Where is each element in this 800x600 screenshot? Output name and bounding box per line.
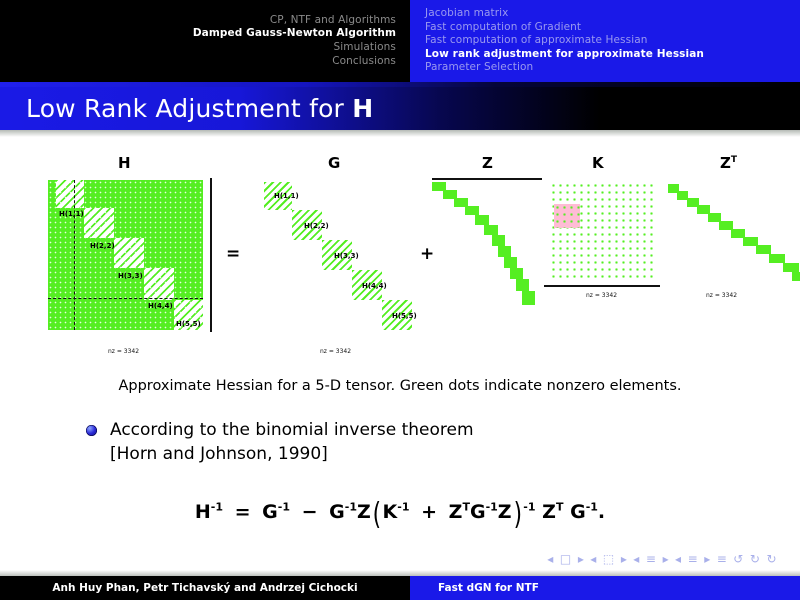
binomial-inverse-equation: H-1 = G-1 − G-1Z(K-1 + ZTG-1Z)-1 ZT G-1. <box>0 497 800 532</box>
page-title-prefix: Low Rank Adjustment for <box>26 94 352 123</box>
eq-close-sup: -1 <box>523 501 535 514</box>
bullet-item: According to the binomial inverse theore… <box>86 418 726 466</box>
footer-authors: Anh Huy Phan, Petr Tichavský and Andrzej… <box>0 576 410 600</box>
matrix-h-block-label-2: H(2,2) <box>90 242 115 250</box>
nav-subsection-2[interactable]: Fast computation of approximate Hessian <box>425 34 800 48</box>
hessian-figure: H H(1,1) H(2,2) H(3,3) H(4,4) H(5,5) nz … <box>30 152 775 367</box>
nav-symbol-section-icon[interactable]: ◂ ≡ ▸ <box>675 552 712 566</box>
eq-plus: + <box>421 501 437 523</box>
eq-t4: K <box>383 501 398 523</box>
nav-section-2[interactable]: Simulations <box>333 41 396 55</box>
matrix-zt-axis-note: nz = 3342 <box>706 292 737 299</box>
matrix-z-step <box>510 268 523 279</box>
matrix-label-g: G <box>328 154 340 172</box>
eq-t9: G <box>570 501 586 523</box>
matrix-label-h: H <box>118 154 131 172</box>
eq-t7: Z <box>498 501 512 523</box>
eq-t9-sup: -1 <box>586 501 598 514</box>
matrix-h-axis-note: nz = 3342 <box>108 348 139 355</box>
matrix-zt-step <box>769 254 785 263</box>
header-navigation: CP, NTF and Algorithms Damped Gauss-Newt… <box>0 0 800 82</box>
eq-t8: Z <box>542 501 556 523</box>
matrix-h-block-label-5: H(5,5) <box>176 320 201 328</box>
matrix-zt-step <box>792 272 800 281</box>
matrix-g-block-label-3: H(3,3) <box>334 252 359 260</box>
eq-period: . <box>598 501 605 523</box>
bullet-line-2: [Horn and Johnson, 1990] <box>110 442 474 466</box>
matrix-g-block-label-5: H(5,5) <box>392 312 417 320</box>
eq-open-paren: ( <box>372 497 380 532</box>
nav-subsection-3[interactable]: Low rank adjustment for approximate Hess… <box>425 48 800 62</box>
matrix-h-vgrid <box>74 180 75 330</box>
matrix-z-step <box>498 246 511 257</box>
matrix-z-step <box>522 291 535 305</box>
nav-symbol-frame-icon[interactable]: ◂ ⬚ ▸ <box>590 552 628 566</box>
section-navigation: CP, NTF and Algorithms Damped Gauss-Newt… <box>0 0 410 82</box>
matrix-label-k: K <box>592 154 604 172</box>
matrix-h-block-label-1: H(1,1) <box>59 210 84 218</box>
eq-t1-sup: -1 <box>278 501 290 514</box>
eq-t2: G <box>329 501 345 523</box>
eq-t6: G <box>470 501 486 523</box>
matrix-k-bottom-rule <box>544 285 660 287</box>
nav-subsection-0[interactable]: Jacobian matrix <box>425 7 800 21</box>
matrix-g-block-label-1: H(1,1) <box>274 192 299 200</box>
matrix-h-dot-texture <box>48 180 203 330</box>
matrix-h-block-label-3: H(3,3) <box>118 272 143 280</box>
eq-lhs-sup: -1 <box>211 501 223 514</box>
matrix-k-highlight-block <box>554 204 580 228</box>
matrix-z-step <box>516 279 529 291</box>
eq-t6-sup: -1 <box>486 501 498 514</box>
eq-t5: Z <box>449 501 463 523</box>
eq-t1: G <box>262 501 278 523</box>
bullet-text: According to the binomial inverse theore… <box>110 418 474 466</box>
eq-t3: Z <box>357 501 371 523</box>
beamer-navigation-symbols[interactable]: ◂ □ ▸ ◂ ⬚ ▸ ◂ ≡ ▸ ◂ ≡ ▸ ≡ ↺ ↻ ↻ <box>547 552 778 566</box>
matrix-g-block-label-4: H(4,4) <box>362 282 387 290</box>
eq-t2-sup: -1 <box>345 501 357 514</box>
matrix-k-dot-field <box>550 182 655 282</box>
nav-symbol-doc-icon[interactable]: ≡ <box>717 552 728 566</box>
nav-section-0[interactable]: CP, NTF and Algorithms <box>270 14 396 28</box>
nav-symbol-subsection-icon[interactable]: ◂ ≡ ▸ <box>633 552 670 566</box>
matrix-label-z: Z <box>482 154 493 172</box>
matrix-z-step <box>465 206 479 215</box>
operator-equals: = <box>226 244 240 264</box>
matrix-zt-plot <box>668 184 800 289</box>
matrix-z-step <box>475 215 489 225</box>
matrix-h-plot: H(1,1) H(2,2) H(3,3) H(4,4) H(5,5) <box>48 180 203 330</box>
matrix-zt-step <box>756 245 771 254</box>
bullet-line-1: According to the binomial inverse theore… <box>110 418 474 442</box>
nav-subsection-4[interactable]: Parameter Selection <box>425 61 800 75</box>
nav-section-1[interactable]: Damped Gauss-Newton Algorithm <box>193 27 396 41</box>
eq-t5-sup: T <box>462 501 470 514</box>
matrix-k-plot <box>550 182 655 282</box>
matrix-h-right-rule <box>210 178 212 332</box>
matrix-h-hgrid <box>48 298 203 299</box>
matrix-g-block-label-2: H(2,2) <box>304 222 329 230</box>
eq-equals: = <box>235 501 251 523</box>
nav-section-3[interactable]: Conclusions <box>332 55 396 69</box>
nav-symbol-back-forward-icon[interactable]: ↺ ↻ ↻ <box>733 552 778 566</box>
matrix-z-plot <box>432 182 542 310</box>
page-title: Low Rank Adjustment for H <box>0 96 373 121</box>
matrix-label-zt-base: Z <box>720 154 731 172</box>
matrix-zt-step <box>783 263 799 272</box>
matrix-z-step <box>484 225 498 235</box>
matrix-h-block-label-4: H(4,4) <box>148 302 173 310</box>
eq-t8-sup: T <box>556 501 564 514</box>
subsection-navigation: Jacobian matrix Fast computation of Grad… <box>410 0 800 82</box>
nav-subsection-1[interactable]: Fast computation of Gradient <box>425 21 800 35</box>
eq-t4-sup: -1 <box>397 501 409 514</box>
matrix-z-top-rule <box>432 178 542 180</box>
figure-caption: Approximate Hessian for a 5-D tensor. Gr… <box>0 378 800 394</box>
eq-minus: − <box>302 501 318 523</box>
footer: Anh Huy Phan, Petr Tichavský and Andrzej… <box>0 576 800 600</box>
matrix-k-highlight-dots <box>554 204 580 228</box>
matrix-label-zt: ZT <box>720 154 737 172</box>
footer-short-title: Fast dGN for NTF <box>410 576 800 600</box>
bullet-sphere-icon <box>86 425 97 436</box>
matrix-g-plot: H(1,1) H(2,2) H(3,3) H(4,4) H(5,5) <box>262 180 412 330</box>
eq-close-paren: ) <box>513 497 521 532</box>
title-band: Low Rank Adjustment for H <box>0 87 800 130</box>
matrix-z-step <box>504 257 517 268</box>
page-title-symbol: H <box>352 94 373 123</box>
slide: CP, NTF and Algorithms Damped Gauss-Newt… <box>0 0 800 600</box>
matrix-label-zt-sup: T <box>731 155 737 165</box>
nav-symbol-slide-icon[interactable]: ◂ □ ▸ <box>547 552 585 566</box>
matrix-g-axis-note: nz = 3342 <box>320 348 351 355</box>
matrix-k-axis-note: nz = 3342 <box>586 292 617 299</box>
matrix-z-step <box>492 235 505 246</box>
eq-lhs: H <box>195 501 211 523</box>
title-shadow <box>0 130 800 137</box>
